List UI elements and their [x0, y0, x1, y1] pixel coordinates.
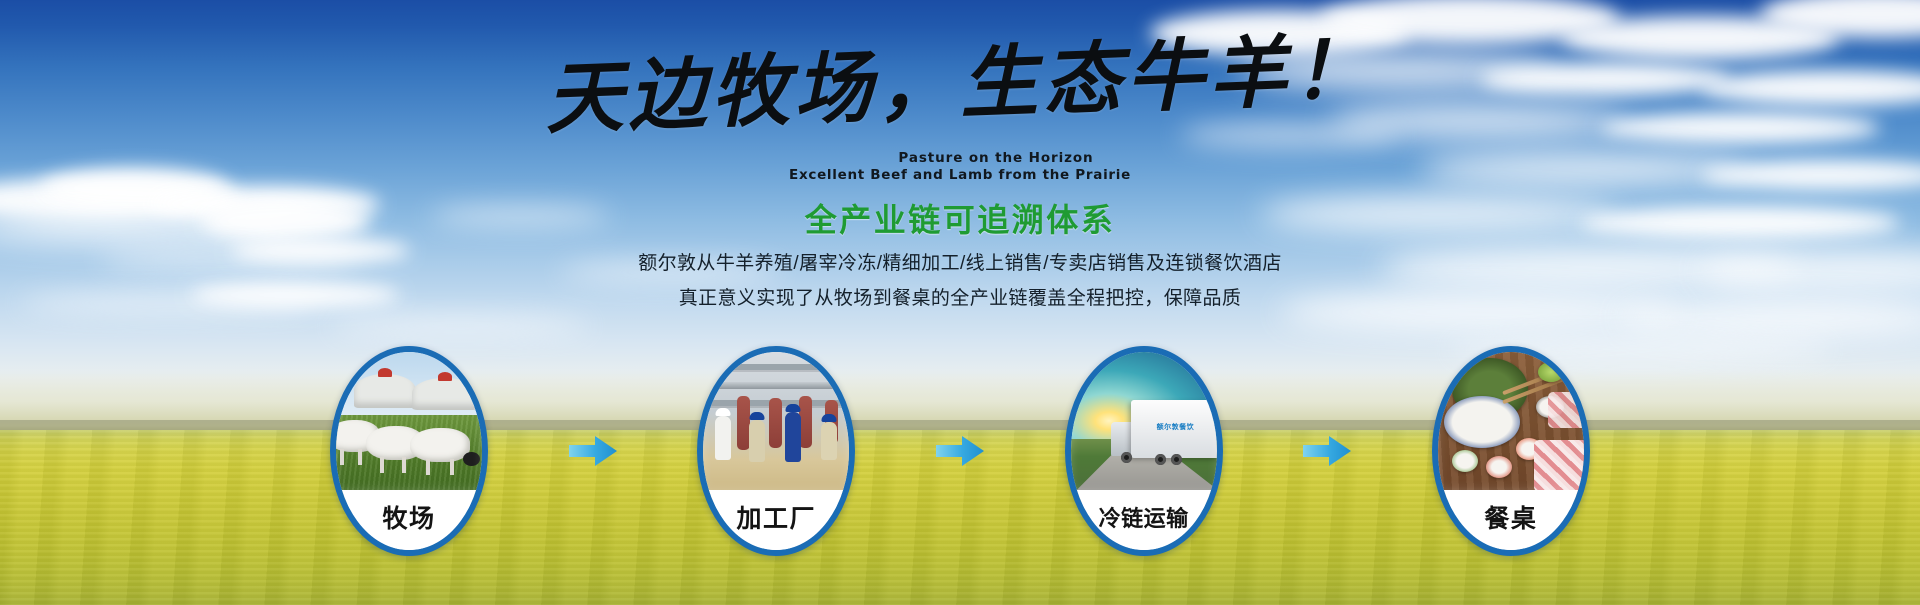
flow-step-label: 加工厂	[703, 490, 849, 550]
flow-step-pasture[interactable]: 牧场	[330, 346, 488, 556]
english-subtitle-line2: Excellent Beef and Lamb from the Prairie	[0, 167, 1920, 184]
english-subtitle-line1: Pasture on the Horizon	[0, 150, 1920, 167]
cloud-shape	[1180, 122, 1400, 148]
pasture-sheep-yurt-photo	[336, 352, 482, 502]
cold-chain-truck-photo: 额尔敦餐饮	[1071, 352, 1217, 502]
flow-step-cold-chain-transport[interactable]: 额尔敦餐饮 冷链运输	[1065, 346, 1223, 556]
cloud-shape	[330, 316, 590, 336]
flow-step-dining-table[interactable]: 餐桌	[1432, 346, 1590, 556]
arrow-right-icon	[934, 431, 986, 471]
promo-banner: 天边牧场，生态牛羊！ Pasture on the Horizon Excell…	[0, 0, 1920, 605]
processing-plant-photo	[703, 352, 849, 502]
cloud-shape	[1600, 112, 1880, 144]
supply-chain-flow: 牧场	[330, 346, 1590, 556]
flow-step-label: 冷链运输	[1071, 490, 1217, 550]
description-line-2: 真正意义实现了从牧场到餐桌的全产业链覆盖全程把控，保障品质	[0, 283, 1920, 310]
flow-step-label: 牧场	[336, 490, 482, 550]
flow-step-processing-plant[interactable]: 加工厂	[697, 346, 855, 556]
dining-table-hotpot-photo	[1438, 352, 1584, 502]
arrow-right-icon	[1301, 431, 1353, 471]
description-line-1: 额尔敦从牛羊养殖/屠宰冷冻/精细加工/线上销售/专卖店销售及连锁餐饮酒店	[0, 248, 1920, 275]
flow-step-label: 餐桌	[1438, 490, 1584, 550]
arrow-right-icon	[567, 431, 619, 471]
section-heading: 全产业链可追溯体系	[0, 195, 1920, 241]
english-subtitle: Pasture on the Horizon Excellent Beef an…	[0, 150, 1920, 184]
